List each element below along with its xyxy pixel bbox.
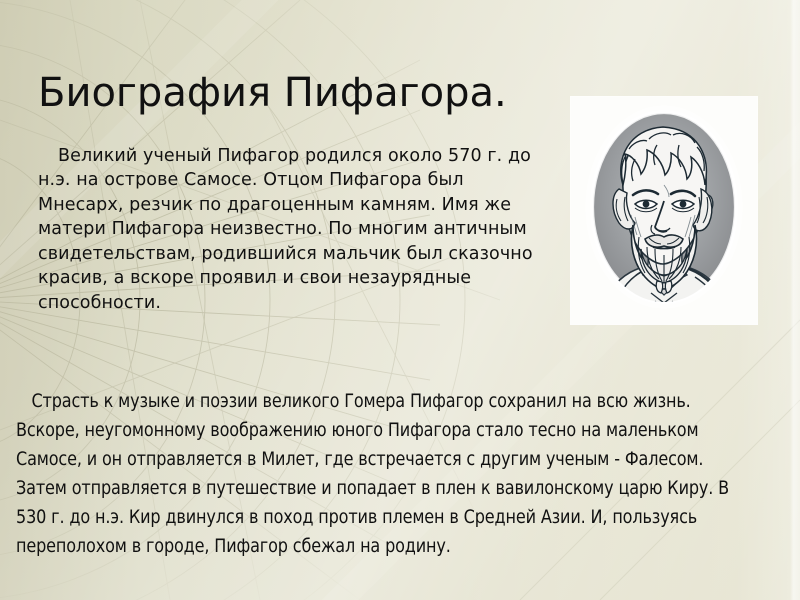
paragraph-birth-and-family: Великий ученый Пифагор родился около 570…: [38, 144, 538, 316]
right-edge-highlight: [790, 0, 800, 600]
page-title: Биография Пифагора.: [38, 69, 558, 117]
paragraph-travels: Страсть к музыке и поэзии великого Гомер…: [16, 387, 759, 561]
slide-canvas: Биография Пифагора. Пифагор: [0, 0, 800, 600]
portrait-of-pythagoras: Пифагор: [571, 97, 757, 324]
